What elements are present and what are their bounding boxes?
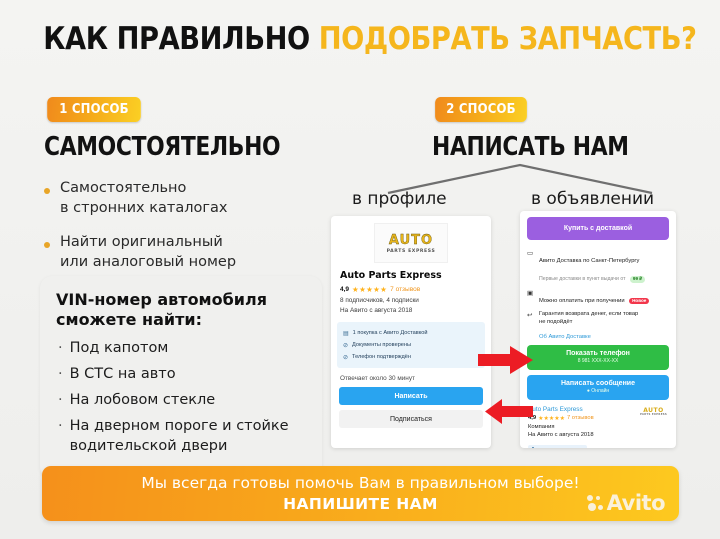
bullet-dash-icon: · [58, 339, 63, 358]
feature-label: Телефон подтверждён [352, 354, 411, 360]
seller-logo: AUTO PARTS EXPRESS [640, 408, 667, 417]
poster-canvas: КАК ПРАВИЛЬНО ПОДОБРАТЬ ЗАПЧАСТЬ? 1 СПОС… [0, 0, 720, 539]
show-phone-label: Показать телефон [566, 350, 630, 357]
method-two-title: НАПИСАТЬ НАМ [432, 132, 629, 162]
wallet-icon: ▣ [527, 289, 535, 307]
price-badge: 99 ₽ [630, 276, 645, 283]
write-message-label: Написать сообщение [561, 380, 635, 387]
vin-card-title: VIN-номер автомобиля сможете найти: [56, 290, 306, 330]
write-button[interactable]: Написать [339, 387, 483, 405]
arrow-left-icon [484, 398, 534, 425]
avito-profile-card: AUTO PARTS EXPRESS Auto Parts Express 4,… [331, 216, 491, 448]
badge-method-two: 2 СПОСОБ [435, 97, 527, 122]
logo-text-bottom: PARTS EXPRESS [387, 249, 436, 254]
list-item: ▭ Авито Доставка по Санкт-Петербургу Пер… [527, 247, 669, 287]
reviews-link[interactable]: 7 отзывов [567, 415, 594, 421]
vin-item-text: На лобовом стекле [70, 391, 216, 410]
list-item: ▤ 1 покупка с Авито Доставкой [343, 327, 479, 339]
check-circle-icon: ⊘ [343, 342, 348, 349]
logo-text-top: AUTO [389, 233, 433, 248]
online-status: ● Онлайн [587, 388, 609, 394]
reviews-link[interactable]: 7 отзывов [390, 286, 420, 293]
bullet-dot-icon [44, 242, 50, 248]
cta-line-two: НАПИШИТЕ НАМ [283, 495, 438, 513]
documents-verified-badge: Документы проверены [528, 445, 587, 448]
page-title: КАК ПРАВИЛЬНО ПОДОБРАТЬ ЗАПЧАСТЬ? [43, 24, 677, 55]
vin-item-text: На дверном пороге и стойке водительской … [70, 417, 289, 455]
page-title-dark: КАК ПРАВИЛЬНО [43, 21, 319, 57]
avito-listing-card: Купить с доставкой ▭ Авито Доставка по С… [520, 211, 676, 448]
buy-with-delivery-button[interactable]: Купить с доставкой [527, 217, 669, 240]
logo-text-bottom: PARTS EXPRESS [640, 414, 667, 417]
method-one-title: САМОСТОЯТЕЛЬНО [44, 132, 280, 162]
answer-time: Отвечает около 30 минут [340, 375, 491, 382]
benefit-text: Можно оплатить при получении [539, 298, 625, 304]
phone-number: 8 981 XXX-XX-XX [578, 358, 619, 364]
cta-line-one: Мы всегда готовы помочь Вам в правильном… [141, 474, 579, 492]
vin-item-text: Под капотом [70, 339, 169, 358]
company-logo: AUTO PARTS EXPRESS [374, 223, 448, 263]
box-icon: ▤ [343, 330, 349, 337]
list-item: ▣ Можно оплатить при получении Новое [527, 287, 669, 309]
label-in-listing: в объявлении [531, 189, 654, 209]
new-badge: Новое [629, 298, 649, 304]
profile-rating: 4,9 ★★★★★ 7 отзывов [340, 285, 491, 294]
profile-member-since: На Авито с августа 2018 [340, 307, 491, 314]
star-icon: ★★★★★ [352, 285, 387, 294]
avito-dots-icon [587, 495, 604, 512]
vin-item-text: В СТС на авто [70, 365, 176, 384]
bullet-dash-icon: · [58, 391, 63, 410]
cta-banner: Мы всегда готовы помочь Вам в правильном… [42, 466, 679, 521]
bullet-dash-icon: · [58, 417, 63, 455]
profile-features: ▤ 1 покупка с Авито Доставкой ⊘ Документ… [337, 322, 485, 368]
avito-wordmark: Avito [607, 491, 665, 515]
profile-subscribers: 8 подписчиков, 4 подписки [340, 297, 491, 304]
list-item: · На дверном пороге и стойке водительско… [56, 417, 306, 455]
list-item: ⊘ Телефон подтверждён [343, 351, 479, 363]
about-delivery-link[interactable]: Об Авито Доставке [539, 334, 676, 340]
avito-logo: Avito [587, 491, 665, 515]
benefit-text: Гарантия возврата денег, если товар не п… [539, 311, 638, 327]
list-item: Самостоятельно в стронних каталогах [44, 178, 324, 218]
seller-block: AUTO PARTS EXPRESS Auto Parts Express 4,… [528, 406, 669, 448]
return-icon: ↩ [527, 311, 535, 327]
profile-name: Auto Parts Express [340, 270, 491, 281]
write-message-button[interactable]: Написать сообщение ● Онлайн [527, 375, 669, 400]
vin-info-card: VIN-номер автомобиля сможете найти: · По… [40, 276, 322, 479]
bullet-text: Самостоятельно в стронних каталогах [60, 178, 227, 218]
feature-label: Документы проверены [352, 342, 411, 348]
badge-method-one: 1 СПОСОБ [47, 97, 141, 122]
rating-value: 4,9 [340, 286, 349, 293]
list-item: ↩ Гарантия возврата денег, если товар не… [527, 309, 669, 329]
list-item: ⊘ Документы проверены [343, 339, 479, 351]
delivery-benefits: ▭ Авито Доставка по Санкт-Петербургу Пер… [527, 247, 669, 329]
benefit-subtext: Первые доставки в пункт выдачи от [539, 276, 625, 282]
bullet-text: Найти оригинальный или аналоговый номер [60, 232, 236, 272]
check-circle-icon: ⊘ [343, 354, 348, 361]
label-in-profile: в профиле [352, 189, 447, 209]
star-icon: ★★★★★ [538, 415, 565, 422]
list-item: · На лобовом стекле [56, 391, 306, 410]
list-item: · В СТС на авто [56, 365, 306, 384]
benefit-text: Авито Доставка по Санкт-Петербургу [539, 258, 639, 264]
list-item: · Под капотом [56, 339, 306, 358]
method-one-bullets: Самостоятельно в стронних каталогах Найт… [44, 178, 324, 286]
page-title-gold: ПОДОБРАТЬ ЗАПЧАСТЬ? [319, 21, 697, 57]
show-phone-button[interactable]: Показать телефон 8 981 XXX-XX-XX [527, 345, 669, 370]
seller-member-since: На Авито с августа 2018 [528, 432, 669, 438]
subscribe-button[interactable]: Подписаться [339, 410, 483, 428]
list-item: Найти оригинальный или аналоговый номер [44, 232, 324, 272]
bullet-dot-icon [44, 188, 50, 194]
seller-type: Компания [528, 424, 669, 430]
feature-label: 1 покупка с Авито Доставкой [353, 330, 428, 336]
truck-icon: ▭ [527, 249, 535, 285]
bullet-dash-icon: · [58, 365, 63, 384]
arrow-right-icon [478, 345, 534, 375]
